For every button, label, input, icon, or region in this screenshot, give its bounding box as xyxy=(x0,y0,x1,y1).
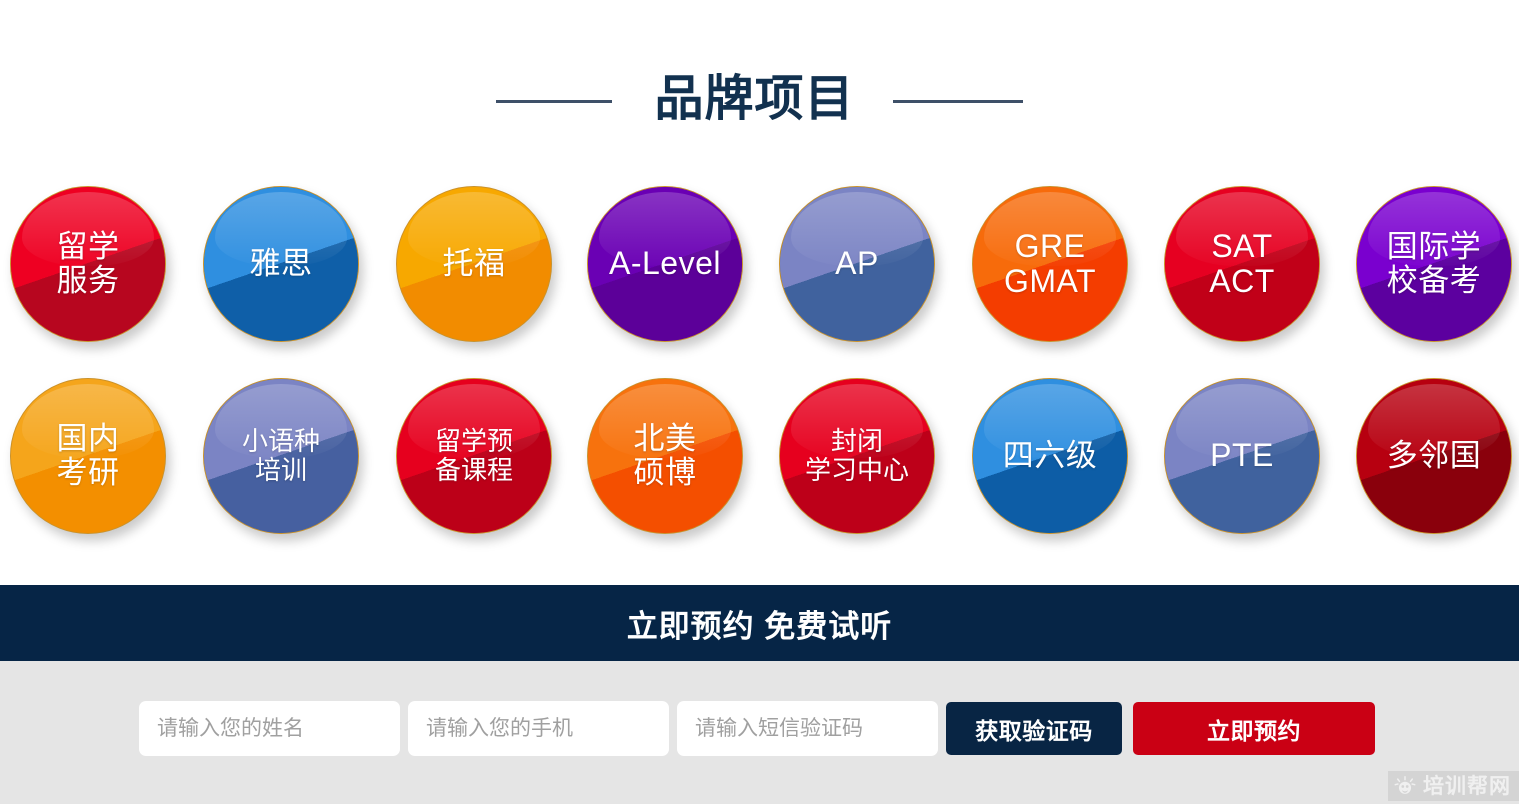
page-title: 品牌项目 xyxy=(654,75,854,124)
program-bubble-duolingo[interactable]: 多邻国 xyxy=(1356,378,1512,534)
bubble-label: 留学 服务 xyxy=(51,230,126,298)
bubble-label: AP xyxy=(829,246,885,281)
program-bubble-toefl[interactable]: 托福 xyxy=(396,186,552,342)
bubble-row-1: 留学 服务雅思托福A-LevelAPGRE GMATSAT ACT国际学 校备考 xyxy=(0,182,1519,374)
phone-input[interactable] xyxy=(408,701,669,756)
bubble-row-2: 国内 考研小语种 培训留学预 备课程北美 硕博封闭 学习中心四六级PTE多邻国 xyxy=(0,374,1519,566)
get-verification-code-button[interactable]: 获取验证码 xyxy=(946,702,1122,755)
program-bubble-north-america-master-phd[interactable]: 北美 硕博 xyxy=(587,378,743,534)
sun-face-icon xyxy=(1394,775,1416,797)
watermark-label: 培训帮网 xyxy=(1423,776,1511,797)
bubble-label: 小语种 培训 xyxy=(236,427,326,484)
bubble-label: 托福 xyxy=(437,247,512,281)
program-bubble-domestic-postgrad[interactable]: 国内 考研 xyxy=(10,378,166,534)
program-bubble-ielts[interactable]: 雅思 xyxy=(203,186,359,342)
bubble-label: 国内 考研 xyxy=(51,422,126,490)
bubble-label: 留学预 备课程 xyxy=(429,427,519,484)
program-bubble-study-abroad-prep-course[interactable]: 留学预 备课程 xyxy=(396,378,552,534)
bubble-label: 雅思 xyxy=(244,247,319,281)
program-bubble-ap[interactable]: AP xyxy=(779,186,935,342)
bubble-label: 四六级 xyxy=(997,439,1104,473)
program-bubble-abroad-study-service[interactable]: 留学 服务 xyxy=(10,186,166,342)
bubble-label: SAT ACT xyxy=(1203,229,1281,299)
bubble-label: GRE GMAT xyxy=(998,229,1102,299)
cta-banner-text: 立即预约 免费试听 xyxy=(627,601,893,646)
title-rule-right xyxy=(893,100,1023,103)
booking-form-strip: 获取验证码 立即预约 xyxy=(0,661,1519,804)
program-bubble-pte[interactable]: PTE xyxy=(1164,378,1320,534)
sms-code-input[interactable] xyxy=(677,701,938,756)
cta-banner: 立即预约 免费试听 xyxy=(0,585,1519,661)
program-bubble-international-school-prep[interactable]: 国际学 校备考 xyxy=(1356,186,1512,342)
submit-booking-button[interactable]: 立即预约 xyxy=(1133,702,1375,755)
program-bubble-cet-4-6[interactable]: 四六级 xyxy=(972,378,1128,534)
bubble-label: PTE xyxy=(1204,438,1280,473)
bubble-label: 国际学 校备考 xyxy=(1381,230,1488,298)
bubble-label: 多邻国 xyxy=(1381,439,1488,473)
program-bubble-minor-language-training[interactable]: 小语种 培训 xyxy=(203,378,359,534)
booking-form: 获取验证码 立即预约 xyxy=(139,701,1375,756)
site-watermark: 培训帮网 xyxy=(1388,771,1519,801)
program-bubble-a-level[interactable]: A-Level xyxy=(587,186,743,342)
name-input[interactable] xyxy=(139,701,400,756)
program-bubble-closed-study-center[interactable]: 封闭 学习中心 xyxy=(779,378,935,534)
program-bubble-gre-gmat[interactable]: GRE GMAT xyxy=(972,186,1128,342)
bubble-label: A-Level xyxy=(603,246,727,281)
bubble-label: 北美 硕博 xyxy=(628,422,703,490)
program-bubble-grid: 留学 服务雅思托福A-LevelAPGRE GMATSAT ACT国际学 校备考… xyxy=(0,182,1519,566)
title-rule-left xyxy=(496,100,612,103)
program-bubble-sat-act[interactable]: SAT ACT xyxy=(1164,186,1320,342)
section-header: 品牌项目 xyxy=(0,62,1519,140)
bubble-label: 封闭 学习中心 xyxy=(799,427,915,484)
